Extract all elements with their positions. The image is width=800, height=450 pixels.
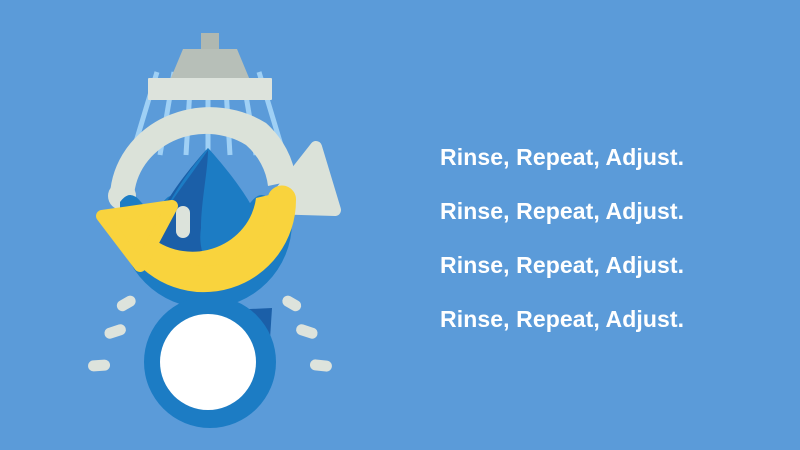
tagline-line-2: Rinse, Repeat, Adjust.	[440, 184, 760, 238]
shower-stem-icon	[201, 33, 219, 49]
blue-ring-icon	[144, 296, 276, 428]
illustration-svg	[60, 10, 360, 440]
tagline-line-3: Rinse, Repeat, Adjust.	[440, 238, 760, 292]
shower-water-recycle-illustration	[60, 10, 360, 440]
tagline-block: Rinse, Repeat, Adjust. Rinse, Repeat, Ad…	[440, 130, 760, 346]
droplet-highlight-icon	[176, 206, 190, 238]
tagline-line-1: Rinse, Repeat, Adjust.	[440, 130, 760, 184]
tagline-line-4: Rinse, Repeat, Adjust.	[440, 292, 760, 346]
shower-head-plate-icon	[148, 78, 272, 100]
slide-canvas: Rinse, Repeat, Adjust. Rinse, Repeat, Ad…	[0, 0, 800, 450]
